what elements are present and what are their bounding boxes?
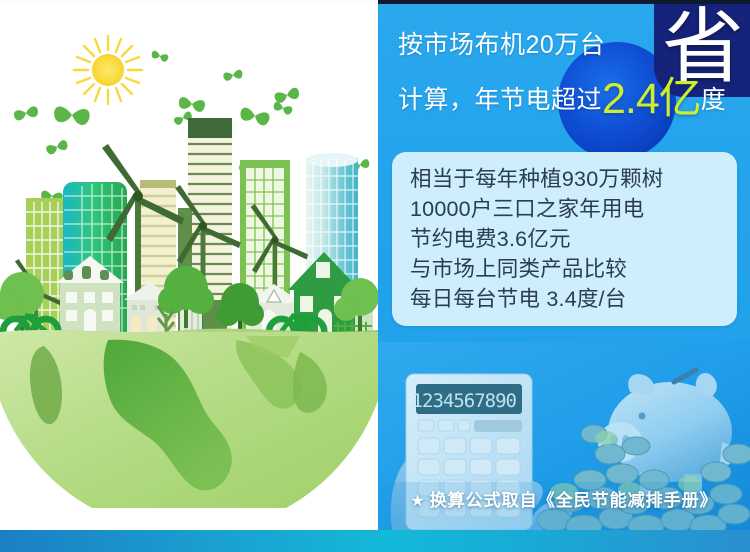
footer-note: ★换算公式取自《全民节能减排手册》 [378,490,750,513]
benefits-box: 相当于每年种植930万颗树 10000户三口之家年用电 节约电费3.6亿元 与市… [392,152,737,326]
eco-illustration-svg [0,0,378,530]
headline-highlight-value: 2.4亿 [602,75,701,123]
info-panel: 省 按市场布机20万台 计算，年节电超过2.4亿度 相当于每年种植930万颗树 … [378,0,750,530]
benefit-line: 每日每台节电 3.4度/台 [410,284,737,314]
footer-note-text: 换算公式取自《全民节能减排手册》 [430,491,718,510]
benefit-line: 节约电费3.6亿元 [410,224,737,254]
poster-root: 省 按市场布机20万台 计算，年节电超过2.4亿度 相当于每年种植930万颗树 … [0,0,750,552]
headline-line-2: 计算，年节电超过2.4亿度 [398,82,738,117]
star-icon: ★ [410,493,425,510]
benefit-line: 与市场上同类产品比较 [410,254,737,284]
headline-block: 按市场布机20万台 计算，年节电超过2.4亿度 [398,30,738,117]
headline-line-1: 按市场布机20万台 [398,30,738,60]
top-strip-white [0,0,378,4]
benefit-line: 相当于每年种植930万颗树 [410,164,737,194]
headline-line-2-prefix: 计算，年节电超过 [398,86,602,114]
svg-text:1234567890: 1234567890 [412,390,517,412]
headline-line-2-suffix: 度 [701,86,727,114]
sun-icon [74,36,142,104]
bottom-gradient-bar [0,530,750,552]
eco-illustration-panel [0,0,378,530]
benefit-line: 10000户三口之家年用电 [410,194,737,224]
